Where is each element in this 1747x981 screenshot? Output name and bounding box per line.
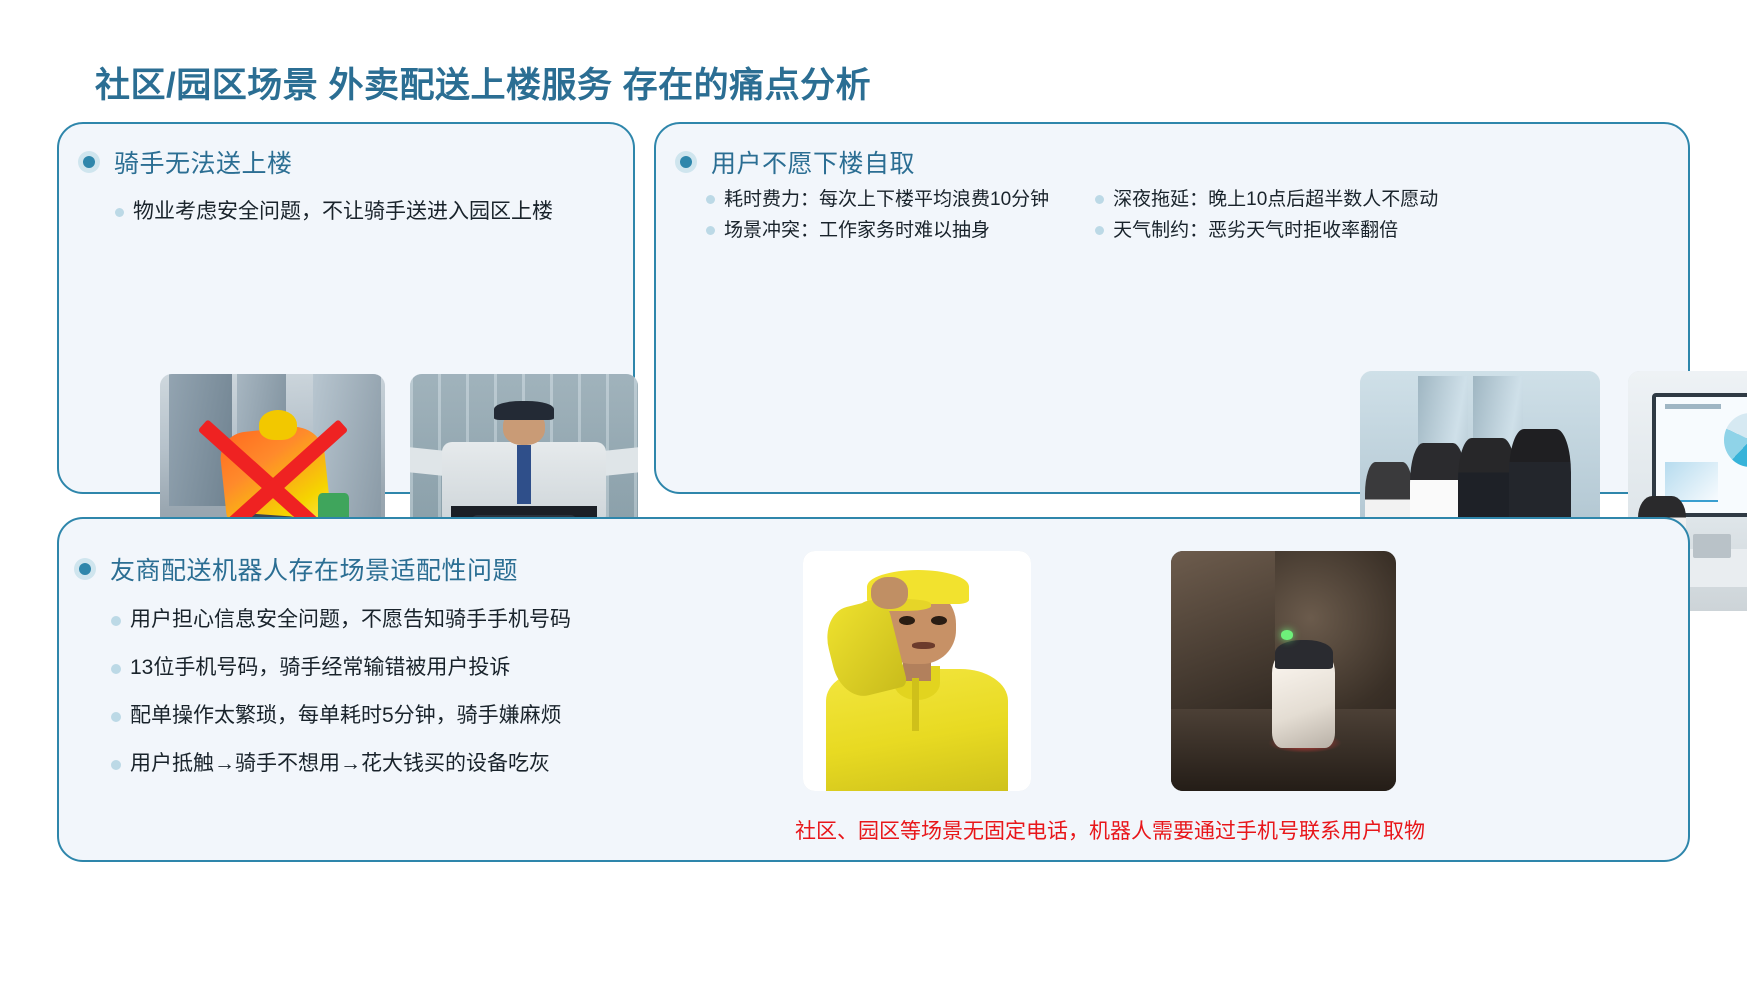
sub-bullet-dot-icon: [1095, 195, 1104, 204]
sub-bullet-dot-icon: [1095, 226, 1104, 235]
card2-bullets-left: 耗时费力：每次上下楼平均浪费10分钟 场景冲突：工作家务时难以抽身: [706, 186, 1049, 244]
sub-bullet-dot-icon: [111, 760, 121, 770]
list-item-label: 深夜拖延：晚上10点后超半数人不愿动: [1113, 186, 1438, 213]
list-item-label: 13位手机号码，骑手经常输错被用户投诉: [130, 653, 510, 683]
card-heading-label: 用户不愿下楼自取: [711, 144, 915, 180]
sub-bullet-dot-icon: [706, 195, 715, 204]
list-item-label: 场景冲突：工作家务时难以抽身: [724, 217, 990, 244]
list-item-label: 耗时费力：每次上下楼平均浪费10分钟: [724, 186, 1049, 213]
list-item-label: 物业考虑安全问题，不让骑手送进入园区上楼: [133, 197, 553, 227]
page-title: 社区/园区场景 外卖配送上楼服务 存在的痛点分析: [95, 57, 871, 108]
list-item-label: 用户抵触→骑手不想用→花大钱买的设备吃灰: [130, 749, 550, 779]
slide-canvas: 社区/园区场景 外卖配送上楼服务 存在的痛点分析 骑手无法送上楼 物业考虑安全问…: [0, 0, 1747, 981]
list-item: 天气制约：恶劣天气时拒收率翻倍: [1095, 217, 1438, 244]
list-item-label: 用户担心信息安全问题，不愿告知骑手手机号码: [130, 605, 571, 635]
card3-bullet-list: 用户担心信息安全问题，不愿告知骑手手机号码 13位手机号码，骑手经常输错被用户投…: [111, 605, 571, 779]
list-item-label: 配单操作太繁琐，每单耗时5分钟，骑手嫌麻烦: [130, 701, 562, 731]
card-heading-label: 骑手无法送上楼: [114, 144, 293, 180]
alert-note: 社区、园区等场景无固定电话，机器人需要通过手机号联系用户取物: [795, 815, 1425, 845]
status-led-icon: [1281, 630, 1292, 640]
pain-point-card-user: 用户不愿下楼自取 耗时费力：每次上下楼平均浪费10分钟 场景冲突：工作家务时难以…: [654, 122, 1690, 494]
confused-courier-photo: [803, 551, 1031, 791]
list-item: 耗时费力：每次上下楼平均浪费10分钟: [706, 186, 1049, 213]
card-heading-rider: 骑手无法送上楼: [78, 144, 293, 180]
list-item: 场景冲突：工作家务时难以抽身: [706, 217, 1049, 244]
card-heading-user: 用户不愿下楼自取: [675, 144, 915, 180]
bullet-dot-icon: [675, 151, 697, 173]
list-item-label: 天气制约：恶劣天气时拒收率翻倍: [1113, 217, 1398, 244]
delivery-robot-photo: [1171, 551, 1396, 791]
sub-bullet-dot-icon: [111, 616, 121, 626]
bullet-dot-icon: [74, 558, 96, 580]
list-item: 配单操作太繁琐，每单耗时5分钟，骑手嫌麻烦: [111, 701, 571, 731]
card-heading-robot: 友商配送机器人存在场景适配性问题: [74, 551, 518, 587]
list-item: 深夜拖延：晚上10点后超半数人不愿动: [1095, 186, 1438, 213]
sub-bullet-dot-icon: [111, 664, 121, 674]
sub-bullet-dot-icon: [115, 208, 124, 217]
list-item: 物业考虑安全问题，不让骑手送进入园区上楼: [115, 197, 553, 227]
sub-bullet-dot-icon: [706, 226, 715, 235]
list-item: 用户抵触→骑手不想用→花大钱买的设备吃灰: [111, 749, 571, 779]
card2-bullets-right: 深夜拖延：晚上10点后超半数人不愿动 天气制约：恶劣天气时拒收率翻倍: [1095, 186, 1438, 244]
card-heading-label: 友商配送机器人存在场景适配性问题: [110, 551, 518, 587]
card1-bullet-list: 物业考虑安全问题，不让骑手送进入园区上楼: [115, 197, 553, 227]
list-item: 用户担心信息安全问题，不愿告知骑手手机号码: [111, 605, 571, 635]
bullet-dot-icon: [78, 151, 100, 173]
list-item: 13位手机号码，骑手经常输错被用户投诉: [111, 653, 571, 683]
card2-bullet-columns: 耗时费力：每次上下楼平均浪费10分钟 场景冲突：工作家务时难以抽身 深夜拖延：晚…: [706, 186, 1438, 244]
pain-point-card-rider: 骑手无法送上楼 物业考虑安全问题，不让骑手送进入园区上楼: [57, 122, 635, 494]
sub-bullet-dot-icon: [111, 712, 121, 722]
